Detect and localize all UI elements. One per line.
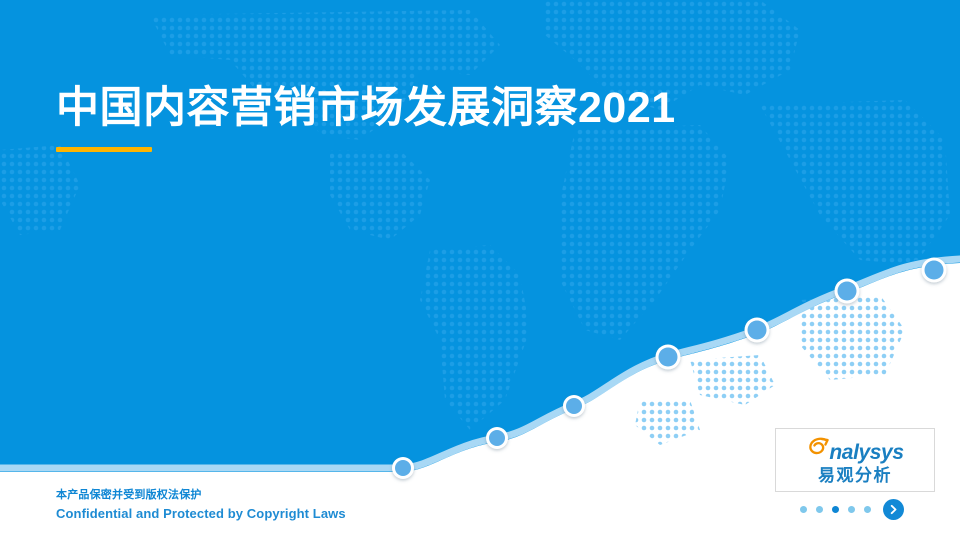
logo-wordmark: nalysys	[806, 435, 903, 459]
pager-dot-5[interactable]	[864, 506, 871, 513]
next-slide-button[interactable]	[883, 499, 904, 520]
confidentiality-note-cn: 本产品保密并受到版权法保护	[56, 487, 346, 504]
pager-dot-2[interactable]	[816, 506, 823, 513]
pager-dot-4[interactable]	[848, 506, 855, 513]
title-block: 中国内容营销市场发展洞察2021	[56, 84, 816, 152]
pagination	[800, 498, 920, 520]
logo-name-cn: 易观分析	[818, 461, 892, 486]
confidentiality-note: 本产品保密并受到版权法保护 Confidential and Protected…	[56, 487, 346, 524]
confidentiality-note-en: Confidential and Protected by Copyright …	[56, 504, 346, 524]
title-slide: 中国内容营销市场发展洞察2021 本产品保密并受到版权法保护 Confident…	[0, 0, 960, 540]
page-title: 中国内容营销市场发展洞察2021	[56, 84, 816, 132]
pager-dot-3[interactable]	[832, 506, 839, 513]
chevron-right-icon	[888, 504, 899, 515]
pager-dot-1[interactable]	[800, 506, 807, 513]
analysys-a-swirl-icon	[806, 435, 830, 459]
brand-logo-card: nalysys 易观分析	[775, 428, 935, 492]
title-accent-rule	[56, 147, 152, 152]
